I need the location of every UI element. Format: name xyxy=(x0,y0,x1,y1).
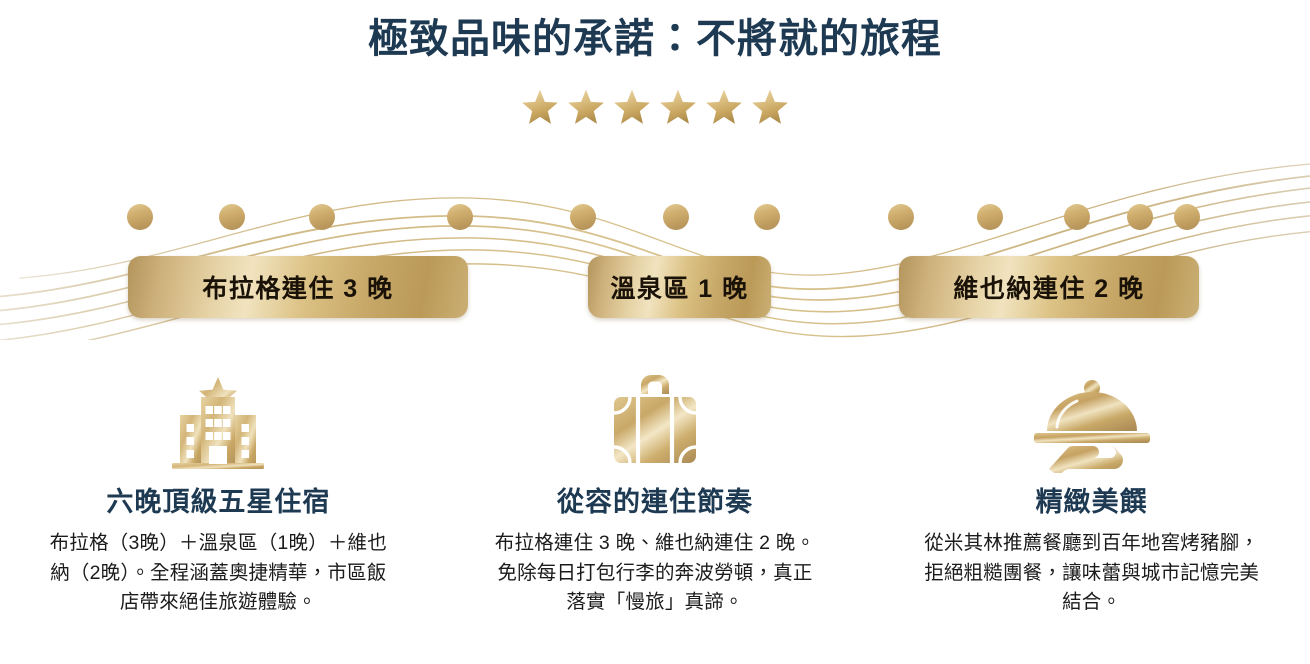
timeline-dot[interactable] xyxy=(570,204,596,230)
star-icon xyxy=(703,87,745,127)
feature-description: 布拉格連住 3 晚、維也納連住 2 晚。免除每日打包行李的奔波勞頓，真正落實「慢… xyxy=(490,529,820,618)
hotel-building-star-icon xyxy=(18,372,419,474)
poster-root: 極致品味的承諾：不將就的旅程 xyxy=(0,0,1310,664)
star-icon xyxy=(657,87,699,127)
timeline-dot[interactable] xyxy=(888,204,914,230)
timeline-dot[interactable] xyxy=(663,204,689,230)
star-icon xyxy=(611,87,653,127)
timeline-band: 布拉格連住 3 晚 溫泉區 1 晚 維也納連住 2 晚 xyxy=(0,160,1310,340)
timeline-stop-spa[interactable]: 溫泉區 1 晚 xyxy=(588,256,771,318)
star-rating xyxy=(0,84,1310,130)
timeline-dot[interactable] xyxy=(754,204,780,230)
timeline-dot[interactable] xyxy=(1127,204,1153,230)
timeline-dot[interactable] xyxy=(447,204,473,230)
timeline-stop-label: 維也納連住 2 晚 xyxy=(953,269,1144,305)
timeline-stop-prague[interactable]: 布拉格連住 3 晚 xyxy=(128,256,468,318)
title-block: 極致品味的承諾：不將就的旅程 xyxy=(0,14,1310,64)
star-icon xyxy=(519,87,561,127)
timeline-dot[interactable] xyxy=(127,204,153,230)
timeline-stop-vienna[interactable]: 維也納連住 2 晚 xyxy=(899,256,1199,318)
hand-serving-cloche-icon xyxy=(891,372,1292,474)
suitcase-icon-svg xyxy=(600,373,710,473)
feature-dining: 精緻美饌 從米其林推薦餐廳到百年地窖烤豬腳，拒絕粗糙團餐，讓味蕾與城市記憶完美結… xyxy=(873,372,1310,652)
feature-columns: 六晚頂級五星住宿 布拉格（3晚）＋溫泉區（1晚）＋維也納（2晚）。全程涵蓋奧捷精… xyxy=(0,372,1310,652)
timeline-dot[interactable] xyxy=(1174,204,1200,230)
timeline-stop-label: 溫泉區 1 晚 xyxy=(610,269,748,305)
timeline-dot[interactable] xyxy=(1064,204,1090,230)
feature-description: 布拉格（3晚）＋溫泉區（1晚）＋維也納（2晚）。全程涵蓋奧捷精華，市區飯店帶來絕… xyxy=(46,529,391,618)
feature-title: 六晚頂級五星住宿 xyxy=(18,480,419,519)
hand-serving-cloche-icon-svg xyxy=(1027,373,1157,473)
feature-title: 從容的連住節奏 xyxy=(455,480,856,519)
timeline-dot[interactable] xyxy=(309,204,335,230)
timeline-dot[interactable] xyxy=(219,204,245,230)
feature-pace: 從容的連住節奏 布拉格連住 3 晚、維也納連住 2 晚。免除每日打包行李的奔波勞… xyxy=(437,372,874,652)
feature-description: 從米其林推薦餐廳到百年地窖烤豬腳，拒絕粗糙團餐，讓味蕾與城市記憶完美結合。 xyxy=(922,529,1262,618)
page-title: 極致品味的承諾：不將就的旅程 xyxy=(0,14,1310,64)
feature-accommodation: 六晚頂級五星住宿 布拉格（3晚）＋溫泉區（1晚）＋維也納（2晚）。全程涵蓋奧捷精… xyxy=(0,372,437,652)
star-icon xyxy=(565,87,607,127)
timeline-stop-label: 布拉格連住 3 晚 xyxy=(202,269,393,305)
feature-title: 精緻美饌 xyxy=(891,480,1292,519)
hotel-building-star-icon-svg xyxy=(158,373,278,473)
timeline-dot[interactable] xyxy=(977,204,1003,230)
star-icon xyxy=(749,87,791,127)
suitcase-icon xyxy=(455,372,856,474)
